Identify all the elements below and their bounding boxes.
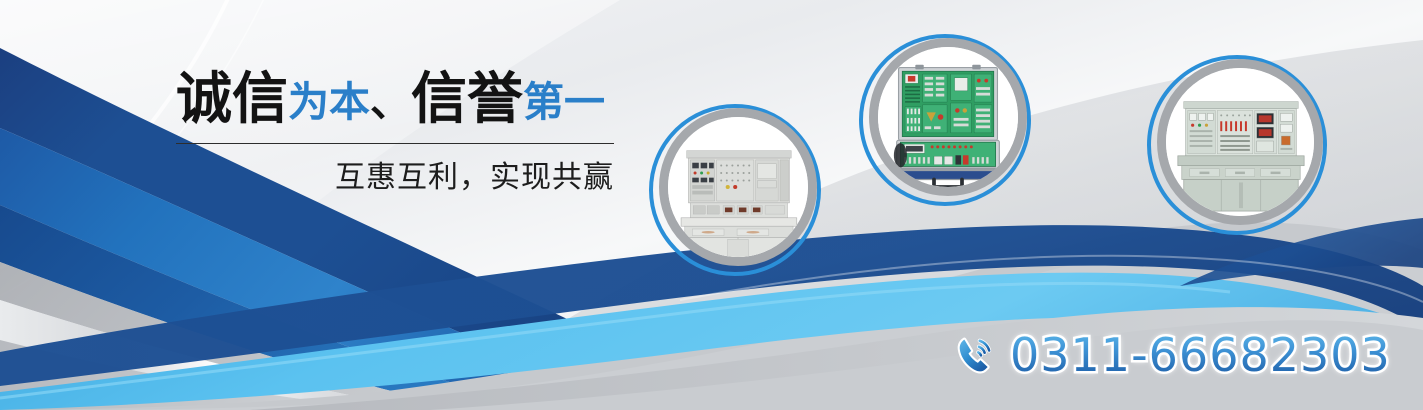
product-photo-training-case <box>878 47 1018 187</box>
promotional-banner: 诚信为本、信誉第一 互惠互利，实现共赢 <box>0 0 1423 410</box>
product-photo-workbench <box>668 117 808 257</box>
headline-part-3: 信誉 <box>411 67 523 132</box>
headline-part-4: 第一 <box>523 78 605 126</box>
product-circle-training-case[interactable] <box>859 34 1031 206</box>
headline-part-2: 为本 <box>288 78 370 126</box>
subtitle: 互惠互利，实现共赢 <box>176 158 614 197</box>
headline-block: 诚信为本、信誉第一 <box>176 70 636 129</box>
phone-call-icon <box>952 331 1000 379</box>
circle-grey-ring <box>869 38 1027 196</box>
headline-divider <box>176 143 614 144</box>
contact-phone-block[interactable]: 0311-66682303 0311-66682303 <box>952 325 1391 385</box>
circle-grey-ring <box>1157 59 1323 225</box>
headline-punctuation: 、 <box>370 78 411 126</box>
product-photo-power-bench <box>1166 68 1314 216</box>
product-circle-workbench[interactable] <box>649 104 821 276</box>
page-title: 诚信为本、信誉第一 <box>176 70 636 129</box>
phone-number[interactable]: 0311-66682303 <box>1010 332 1391 378</box>
circle-grey-ring <box>659 108 817 266</box>
product-circle-power-bench[interactable] <box>1147 55 1327 235</box>
headline-part-1: 诚信 <box>176 67 288 132</box>
